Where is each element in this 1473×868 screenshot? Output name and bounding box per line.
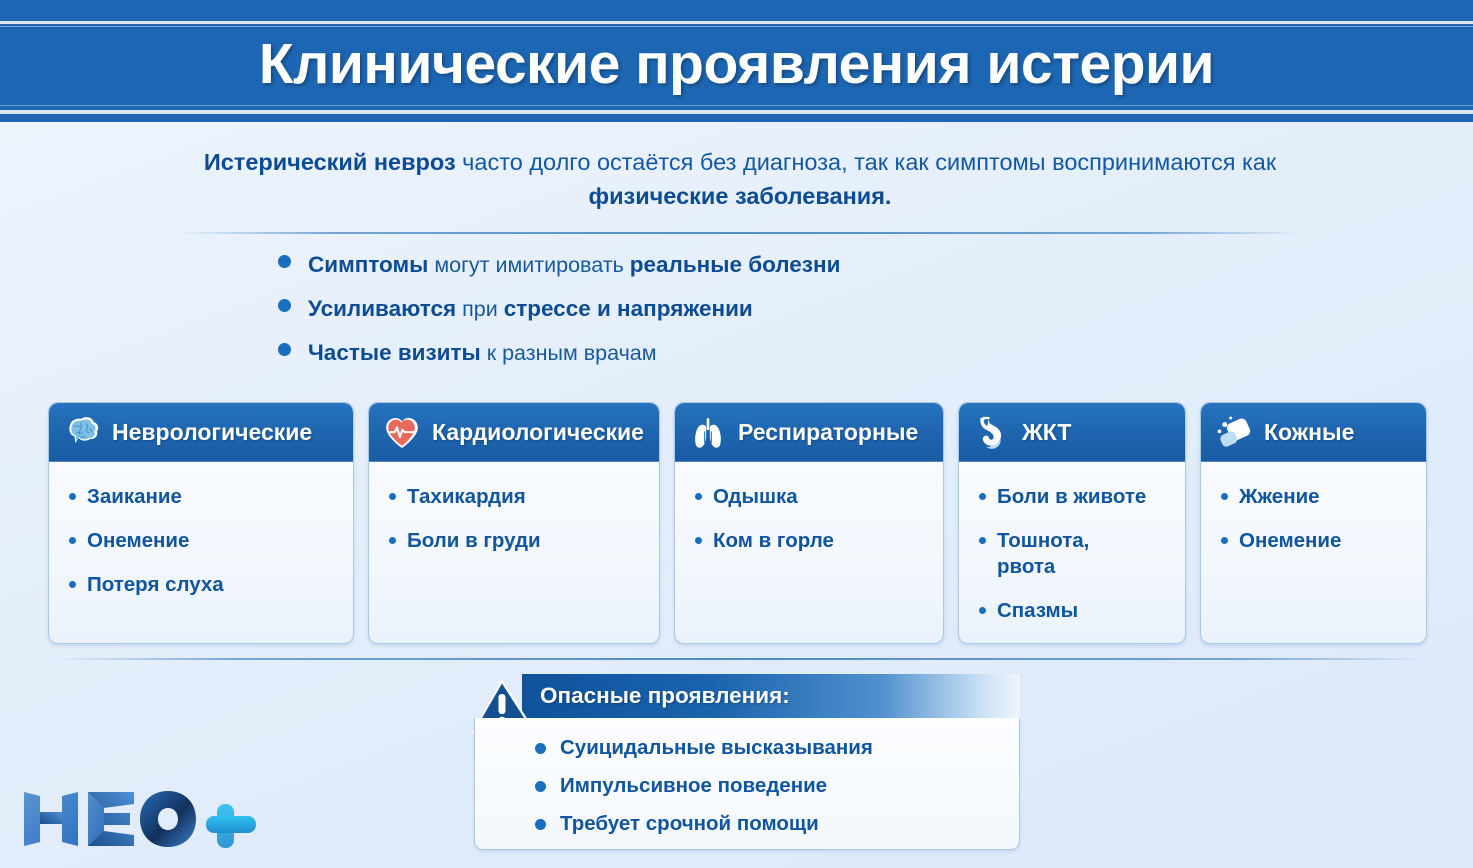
- brand-logo-neo-plus: [18, 786, 260, 852]
- key-point-bold2: реальные болезни: [630, 252, 841, 277]
- card-header: Кожные: [1201, 403, 1426, 462]
- bullet-dot-icon: [695, 493, 702, 500]
- symptom-card-gastrointestinal: ЖКТ Боли в животе Тошнота, рвота Спазмы: [958, 402, 1186, 644]
- key-point-bold: Усиливаются: [308, 296, 456, 321]
- card-title: Кардиологические: [432, 419, 644, 446]
- danger-list-item-label: Импульсивное поведение: [560, 774, 827, 798]
- bullet-dot-icon: [535, 743, 546, 754]
- danger-callout-header: Опасные проявления:: [522, 674, 1020, 718]
- card-list-item-label: Ком в горле: [713, 528, 834, 554]
- card-body: Заикание Онемение Потеря слуха: [49, 462, 353, 643]
- card-list-item-label: Тахикардия: [407, 484, 526, 510]
- card-list-item-label: Онемение: [87, 528, 189, 554]
- key-point-rest: могут имитировать: [428, 253, 629, 277]
- header-rule-top-thin: [0, 26, 1473, 27]
- card-list-item-label: Спазмы: [997, 598, 1078, 624]
- divider-top: [178, 232, 1300, 234]
- header-rule-top: [0, 21, 1473, 24]
- card-title: Респираторные: [738, 419, 918, 446]
- card-list-item: Спазмы: [979, 598, 1185, 624]
- bullet-dot-icon: [69, 581, 76, 588]
- card-list-item: Заикание: [69, 484, 353, 510]
- bullet-dot-icon: [535, 819, 546, 830]
- intro-lead: Истерический невроз: [204, 149, 456, 175]
- card-header: Кардиологические: [369, 403, 659, 462]
- bullet-dot-icon: [979, 493, 986, 500]
- bullet-dot-icon: [979, 537, 986, 544]
- key-point-text: Симптомы могут имитировать реальные боле…: [308, 252, 840, 278]
- symptom-cards-row: Неврологические Заикание Онемение Потеря…: [48, 402, 1435, 644]
- danger-list-item-label: Требует срочной помощи: [560, 812, 819, 836]
- bullet-dot-icon: [278, 299, 291, 312]
- danger-callout-body: Суицидальные высказывания Импульсивное п…: [474, 718, 1020, 850]
- symptom-card-neurological: Неврологические Заикание Онемение Потеря…: [48, 402, 354, 644]
- danger-list-item-label: Суицидальные высказывания: [560, 736, 873, 760]
- key-point-item: Усиливаются при стрессе и напряжении: [278, 296, 840, 340]
- page-title: Клинические проявления истерии: [0, 28, 1473, 100]
- stomach-icon: [972, 413, 1012, 453]
- bullet-dot-icon: [278, 343, 291, 356]
- card-list-item: Тахикардия: [389, 484, 659, 510]
- bullet-dot-icon: [695, 537, 702, 544]
- key-point-rest: при: [456, 297, 504, 321]
- divider-bottom: [52, 658, 1427, 660]
- card-body: Одышка Ком в горле: [675, 462, 943, 643]
- intro-tail: физические заболевания.: [589, 183, 892, 209]
- symptom-card-cardiological: Кардиологические Тахикардия Боли в груди: [368, 402, 660, 644]
- card-header: ЖКТ: [959, 403, 1185, 462]
- intro-middle: часто долго остаётся без диагноза, так к…: [456, 149, 1277, 175]
- card-body: Жжение Онемение: [1201, 462, 1426, 643]
- heart-ecg-icon: [382, 413, 422, 453]
- infographic-poster: Клинические проявления истерии Истеричес…: [0, 0, 1473, 868]
- key-point-bold: Частые визиты: [308, 340, 481, 365]
- card-list-item: Ком в горле: [695, 528, 943, 554]
- key-point-item: Симптомы могут имитировать реальные боле…: [278, 252, 840, 296]
- danger-callout: Опасные проявления: Суицидальные высказы…: [466, 674, 1020, 850]
- card-list-item: Одышка: [695, 484, 943, 510]
- danger-list-item: Требует срочной помощи: [535, 812, 1019, 836]
- header-rule-bottom: [0, 110, 1473, 114]
- card-list-item-label: Боли в животе: [997, 484, 1146, 510]
- danger-list-item: Суицидальные высказывания: [535, 736, 1019, 760]
- card-list-item-label: Заикание: [87, 484, 182, 510]
- bullet-dot-icon: [1221, 537, 1228, 544]
- bullet-dot-icon: [389, 537, 396, 544]
- card-title: ЖКТ: [1022, 419, 1071, 446]
- bullet-dot-icon: [535, 781, 546, 792]
- card-list-item-label: Боли в груди: [407, 528, 541, 554]
- card-list-item: Онемение: [69, 528, 353, 554]
- card-list-item: Боли в животе: [979, 484, 1185, 510]
- card-body: Тахикардия Боли в груди: [369, 462, 659, 643]
- key-point-bold: Симптомы: [308, 252, 428, 277]
- card-list-item-label: Жжение: [1239, 484, 1320, 510]
- key-point-item: Частые визиты к разным врачам: [278, 340, 840, 384]
- key-point-text: Усиливаются при стрессе и напряжении: [308, 296, 753, 322]
- danger-callout-title: Опасные проявления:: [540, 683, 790, 709]
- card-title: Неврологические: [112, 419, 312, 446]
- card-body: Боли в животе Тошнота, рвота Спазмы: [959, 462, 1185, 643]
- card-list-item: Жжение: [1221, 484, 1426, 510]
- card-header: Респираторные: [675, 403, 943, 462]
- key-point-text: Частые визиты к разным врачам: [308, 340, 657, 366]
- card-list-item-label: Одышка: [713, 484, 798, 510]
- card-list-item: Тошнота, рвота: [979, 528, 1185, 580]
- card-list-item: Боли в груди: [389, 528, 659, 554]
- poster-header: Клинические проявления истерии: [0, 0, 1473, 122]
- card-list-item: Потеря слуха: [69, 572, 353, 598]
- card-list-item-label: Потеря слуха: [87, 572, 224, 598]
- key-points-list: Симптомы могут имитировать реальные боле…: [278, 252, 840, 384]
- bullet-dot-icon: [278, 255, 291, 268]
- symptom-card-respiratory: Респираторные Одышка Ком в горле: [674, 402, 944, 644]
- card-list-item: Онемение: [1221, 528, 1426, 554]
- bullet-dot-icon: [389, 493, 396, 500]
- key-point-rest: к разным врачам: [481, 341, 657, 365]
- lungs-icon: [688, 413, 728, 453]
- symptom-card-skin: Кожные Жжение Онемение: [1200, 402, 1427, 644]
- key-point-bold2: стрессе и напряжении: [504, 296, 753, 321]
- card-list-item-label: Онемение: [1239, 528, 1341, 554]
- header-rule-bottom-thin: [0, 105, 1473, 106]
- bullet-dot-icon: [69, 537, 76, 544]
- card-title: Кожные: [1264, 419, 1354, 446]
- intro-paragraph: Истерический невроз часто долго остаётся…: [150, 145, 1330, 213]
- brain-icon: [62, 413, 102, 453]
- card-list-item-label: Тошнота, рвота: [997, 528, 1147, 580]
- card-header: Неврологические: [49, 403, 353, 462]
- skin-patch-icon: [1214, 413, 1254, 453]
- bullet-dot-icon: [69, 493, 76, 500]
- bullet-dot-icon: [1221, 493, 1228, 500]
- danger-list-item: Импульсивное поведение: [535, 774, 1019, 798]
- bullet-dot-icon: [979, 607, 986, 614]
